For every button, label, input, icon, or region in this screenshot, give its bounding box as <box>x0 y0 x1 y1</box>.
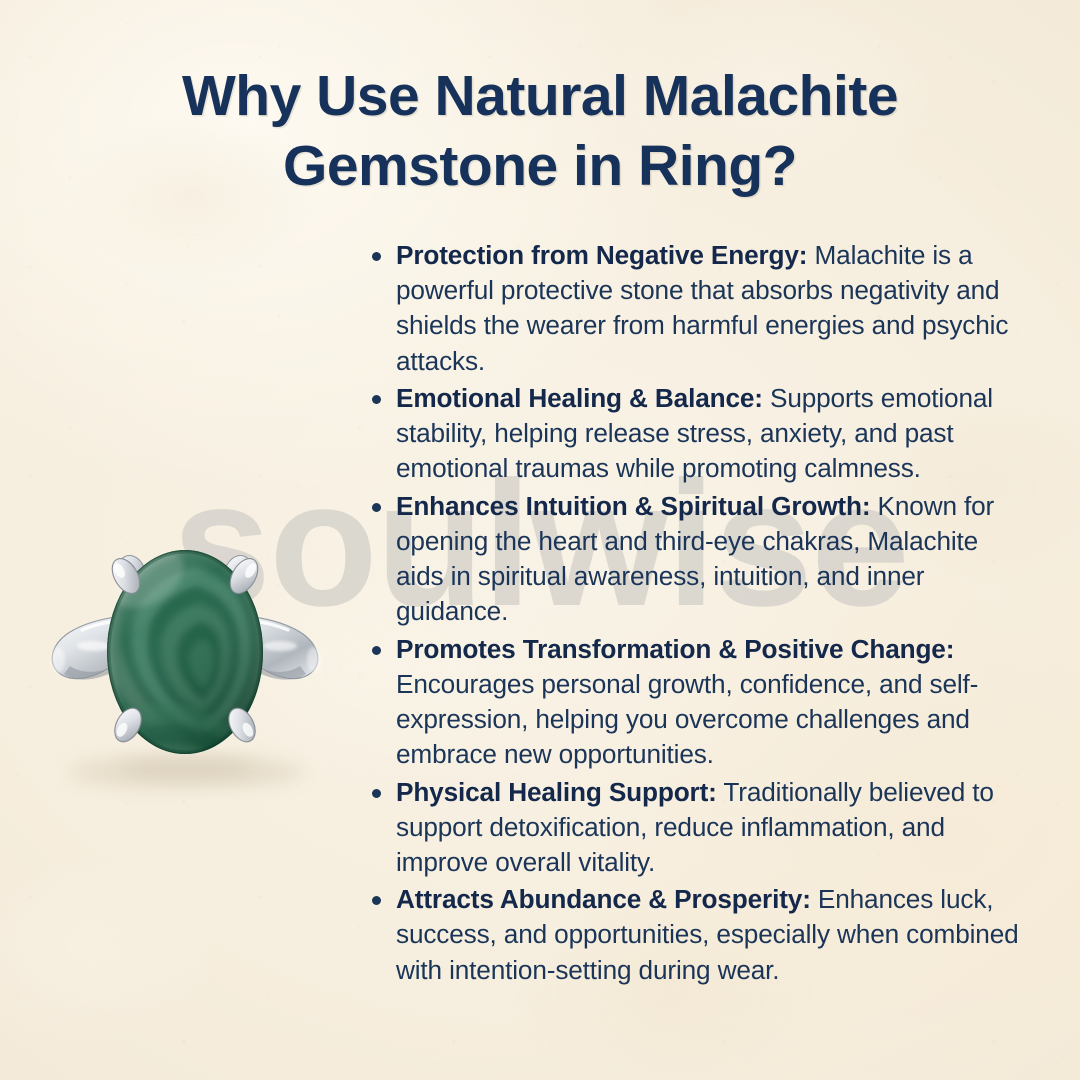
page-title: Why Use Natural Malachite Gemstone in Ri… <box>90 62 990 201</box>
benefit-text: Emotional Healing & Balance: Supports em… <box>396 381 1032 487</box>
bullet-dot-icon <box>372 395 381 404</box>
list-item: Attracts Abundance & Prosperity: Enhance… <box>372 882 1032 988</box>
benefit-text: Attracts Abundance & Prosperity: Enhance… <box>396 882 1032 988</box>
bullet-dot-icon <box>372 789 381 798</box>
infographic-canvas: soulwise <box>0 0 1080 1080</box>
benefits-list: Protection from Negative Energy: Malachi… <box>372 238 1032 990</box>
list-item: Physical Healing Support: Traditionally … <box>372 775 1032 881</box>
list-item: Promotes Transformation & Positive Chang… <box>372 632 1032 773</box>
benefit-text: Physical Healing Support: Traditionally … <box>396 775 1032 881</box>
benefit-description: Encourages personal growth, confidence, … <box>396 669 978 769</box>
page-title-line-1: Why Use Natural Malachite <box>90 62 990 132</box>
bullet-dot-icon <box>372 503 381 512</box>
page-title-line-2: Gemstone in Ring? <box>90 132 990 202</box>
benefit-text: Protection from Negative Energy: Malachi… <box>396 238 1032 379</box>
benefit-term: Physical Healing Support: <box>396 777 717 807</box>
list-item: Enhances Intuition & Spiritual Growth: K… <box>372 489 1032 630</box>
benefit-term: Protection from Negative Energy: <box>396 240 807 270</box>
benefit-term: Emotional Healing & Balance: <box>396 383 763 413</box>
list-item: Emotional Healing & Balance: Supports em… <box>372 381 1032 487</box>
benefit-term: Enhances Intuition & Spiritual Growth: <box>396 491 870 521</box>
bullet-dot-icon <box>372 252 381 261</box>
bullet-dot-icon <box>372 896 381 905</box>
benefit-text: Promotes Transformation & Positive Chang… <box>396 632 1032 773</box>
benefit-term: Promotes Transformation & Positive Chang… <box>396 634 954 664</box>
malachite-ring-image <box>22 520 352 805</box>
list-item: Protection from Negative Energy: Malachi… <box>372 238 1032 379</box>
benefit-text: Enhances Intuition & Spiritual Growth: K… <box>396 489 1032 630</box>
benefit-term: Attracts Abundance & Prosperity: <box>396 884 811 914</box>
bullet-dot-icon <box>372 646 381 655</box>
